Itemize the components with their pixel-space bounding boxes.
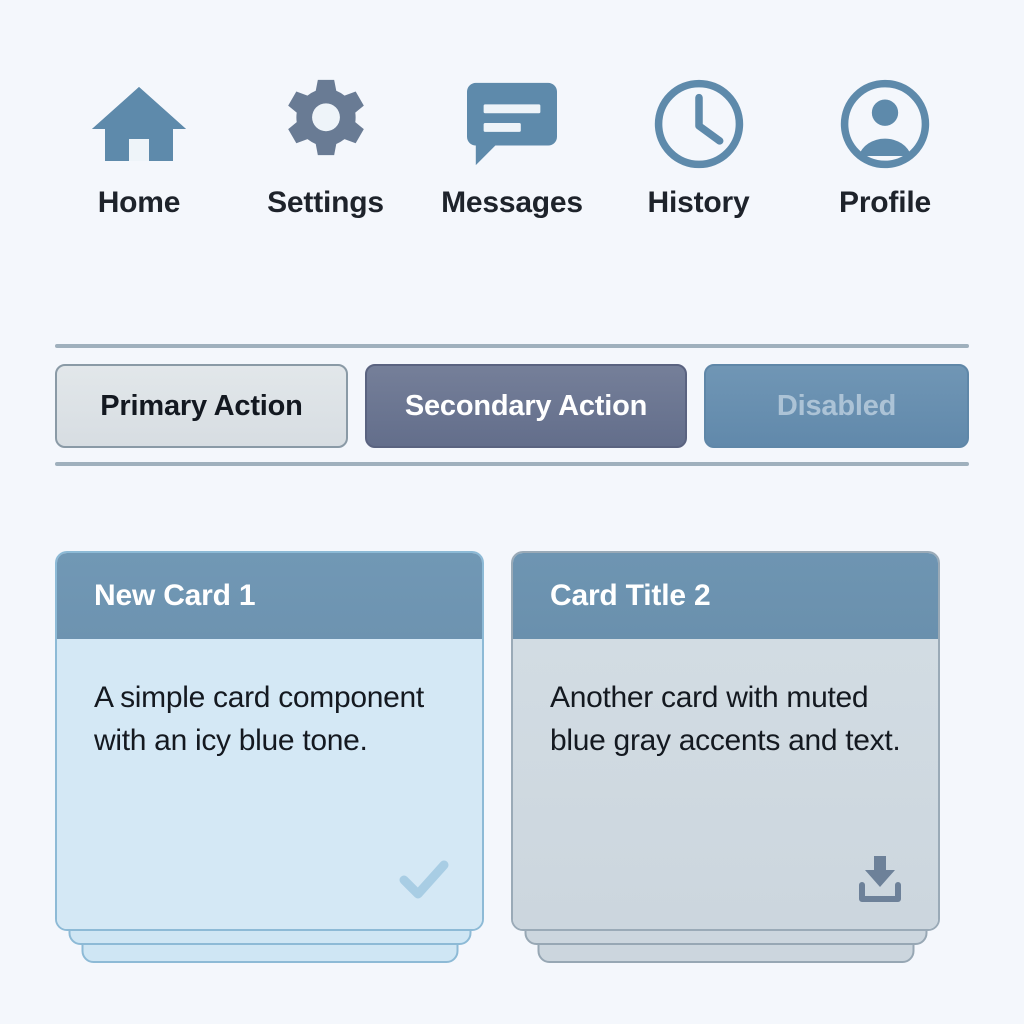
- nav-item-label: History: [648, 186, 750, 220]
- nav-item-label: Settings: [267, 186, 384, 220]
- divider-bottom: [55, 462, 969, 466]
- nav-item-messages[interactable]: Messages: [428, 78, 596, 220]
- top-navigation-bar: Home Settings Messages History: [55, 78, 969, 220]
- action-button-row: Primary Action Secondary Action Disabled: [55, 364, 969, 448]
- message-bubble-icon[interactable]: [463, 78, 561, 170]
- nav-item-home[interactable]: Home: [55, 78, 223, 220]
- home-icon[interactable]: [89, 78, 189, 170]
- disabled-button: Disabled: [704, 364, 969, 448]
- nav-item-history[interactable]: History: [615, 78, 783, 220]
- card-title: Card Title 2: [513, 553, 938, 639]
- clock-icon[interactable]: [652, 78, 746, 170]
- nav-item-settings[interactable]: Settings: [242, 78, 410, 220]
- nav-item-label: Messages: [441, 186, 583, 220]
- card-1[interactable]: New Card 1 A simple card component with …: [55, 551, 484, 931]
- secondary-action-button[interactable]: Secondary Action: [365, 364, 687, 448]
- download-icon[interactable]: [852, 851, 908, 907]
- gear-icon[interactable]: [278, 78, 374, 170]
- nav-item-label: Profile: [839, 186, 931, 220]
- nav-item-profile[interactable]: Profile: [801, 78, 969, 220]
- card-body-text: Another card with muted blue gray accent…: [550, 677, 904, 762]
- nav-item-label: Home: [98, 186, 181, 220]
- card-body: A simple card component with an icy blue…: [57, 639, 482, 929]
- card-stack-1: New Card 1 A simple card component with …: [55, 551, 484, 951]
- card-grid: New Card 1 A simple card component with …: [55, 551, 969, 951]
- card-stack-2: Card Title 2 Another card with muted blu…: [511, 551, 940, 951]
- card-2[interactable]: Card Title 2 Another card with muted blu…: [511, 551, 940, 931]
- primary-action-button[interactable]: Primary Action: [55, 364, 348, 448]
- check-icon[interactable]: [396, 851, 452, 907]
- card-title: New Card 1: [57, 553, 482, 639]
- user-avatar-icon[interactable]: [838, 78, 932, 170]
- card-body: Another card with muted blue gray accent…: [513, 639, 938, 929]
- divider-top: [55, 344, 969, 348]
- card-body-text: A simple card component with an icy blue…: [94, 677, 448, 762]
